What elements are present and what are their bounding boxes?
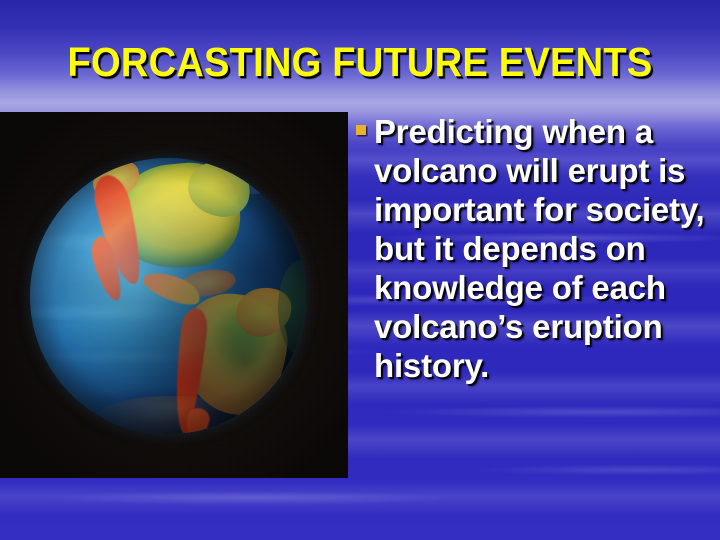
slide-title: FORCASTING FUTURE EVENTS (25, 40, 695, 84)
bullet-list-item: Predicting when a volcano will erupt is … (356, 112, 716, 385)
presentation-slide: FORCASTING FUTURE EVENTS Predic (0, 0, 720, 540)
earth-globe-icon (30, 158, 306, 434)
slide-body-text: Predicting when a volcano will erupt is … (356, 112, 716, 385)
earth-globe-image-panel (0, 112, 348, 478)
bullet-item-label: Predicting when a volcano will erupt is … (374, 112, 716, 385)
square-bullet-icon (356, 125, 366, 135)
globe-terminator-shadow (30, 158, 306, 434)
